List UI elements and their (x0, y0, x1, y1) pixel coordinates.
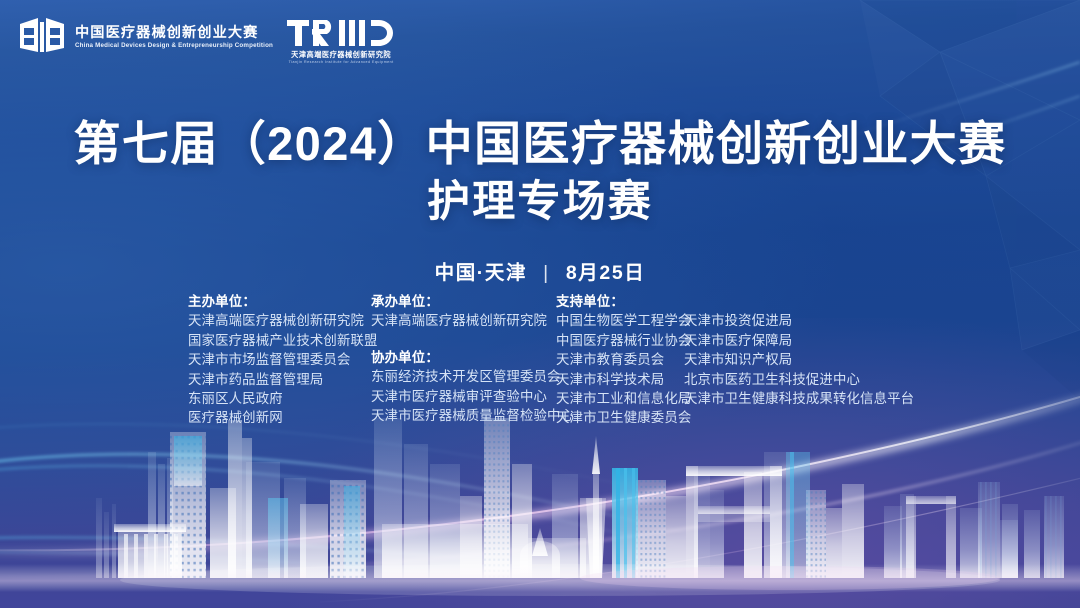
organizer-item: 天津市市场监督管理委员会 (188, 350, 371, 369)
organizer-item: 天津市知识产权局 (684, 350, 904, 369)
organizer-item: 医疗器械创新网 (188, 408, 371, 427)
organizer-item: 北京市医药卫生科技促进中心 (684, 370, 904, 389)
supporter-subcolumn-left: 中国生物医学工程学会 中国医疗器械行业协会 天津市教育委员会 天津市科学技术局 … (556, 311, 684, 427)
supporter-subcolumn-right: 天津市投资促进局 天津市医疗保障局 天津市知识产权局 北京市医药卫生科技促进中心… (684, 311, 904, 408)
organizer-item: 天津市医疗保障局 (684, 331, 904, 350)
organizer-item: 天津市药品监督管理局 (188, 370, 371, 389)
organizer-item: 中国医疗器械行业协会 (556, 331, 684, 350)
triid-wordmark-icon (287, 18, 395, 48)
organizer-item: 天津市卫生健康科技成果转化信息平台 (684, 389, 904, 408)
organizer-item: 天津市科学技术局 (556, 370, 684, 389)
organizer-item: 天津市投资促进局 (684, 311, 904, 330)
event-poster: 中国医疗器械创新创业大赛 China Medical Devices Desig… (0, 0, 1080, 608)
organizer-column-organizer: 承办单位： 天津高端医疗器械创新研究院 协办单位： 东丽经济技术开发区管理委员会… (371, 292, 556, 425)
organizer-columns: 主办单位： 天津高端医疗器械创新研究院 国家医疗器械产业技术创新联盟 天津市市场… (188, 292, 904, 428)
poster-title-main: 第七届（2024）中国医疗器械创新创业大赛 (0, 116, 1080, 171)
competition-logo-chinese: 中国医疗器械创新创业大赛 (75, 26, 269, 40)
event-location: 中国·天津 (435, 262, 528, 284)
organizer-group-undertaker: 承办单位： 天津高端医疗器械创新研究院 (371, 292, 556, 331)
organizer-heading: 承办单位： (371, 292, 556, 311)
organizer-item: 中国生物医学工程学会 (556, 311, 684, 330)
competition-logo-english: China Medical Devices Design & Entrepren… (75, 43, 273, 49)
organizer-column-supporters: 支持单位： 中国生物医学工程学会 中国医疗器械行业协会 天津市教育委员会 天津市… (556, 292, 904, 428)
organizer-column-host: 主办单位： 天津高端医疗器械创新研究院 国家医疗器械产业技术创新联盟 天津市市场… (188, 292, 371, 428)
event-meta-line: 中国·天津 | 8月25日 (0, 256, 1080, 285)
organizer-item: 天津市工业和信息化局 (556, 389, 684, 408)
organizer-group-host: 主办单位： 天津高端医疗器械创新研究院 国家医疗器械产业技术创新联盟 天津市市场… (188, 292, 371, 428)
competition-logo: 中国医疗器械创新创业大赛 China Medical Devices Desig… (18, 16, 269, 56)
organizer-item: 天津市医疗器械审评查验中心 (371, 387, 556, 406)
organizer-heading: 协办单位： (371, 348, 556, 367)
meta-separator: | (543, 262, 550, 285)
poster-title-block: 第七届（2024）中国医疗器械创新创业大赛 护理专场赛 (0, 116, 1080, 229)
organizer-heading: 支持单位： (556, 292, 904, 311)
organizer-item: 国家医疗器械产业技术创新联盟 (188, 331, 371, 350)
institute-logo-chinese: 天津高端医疗器械创新研究院 (291, 51, 391, 58)
institute-logo-english: Tianjin Research Institute for Advanced … (289, 61, 394, 65)
organizer-heading: 主办单位： (188, 292, 371, 311)
organizer-item: 天津市医疗器械质量监督检验中心 (371, 406, 556, 425)
organizer-item: 天津市教育委员会 (556, 350, 684, 369)
organizer-item: 天津高端医疗器械创新研究院 (188, 311, 371, 330)
institute-logo: 天津高端医疗器械创新研究院 Tianjin Research Institute… (287, 16, 395, 65)
poster-title-sub: 护理专场赛 (0, 177, 1080, 229)
open-book-logo-icon (18, 16, 66, 56)
event-date: 8月25日 (566, 262, 646, 284)
organizer-item: 天津高端医疗器械创新研究院 (371, 311, 556, 330)
logo-bar: 中国医疗器械创新创业大赛 China Medical Devices Desig… (18, 16, 395, 65)
organizer-item: 东丽经济技术开发区管理委员会 (371, 367, 556, 386)
organizer-item: 天津市卫生健康委员会 (556, 408, 684, 427)
organizer-group-coorganizer: 协办单位： 东丽经济技术开发区管理委员会 天津市医疗器械审评查验中心 天津市医疗… (371, 348, 556, 426)
organizer-item: 东丽区人民政府 (188, 389, 371, 408)
